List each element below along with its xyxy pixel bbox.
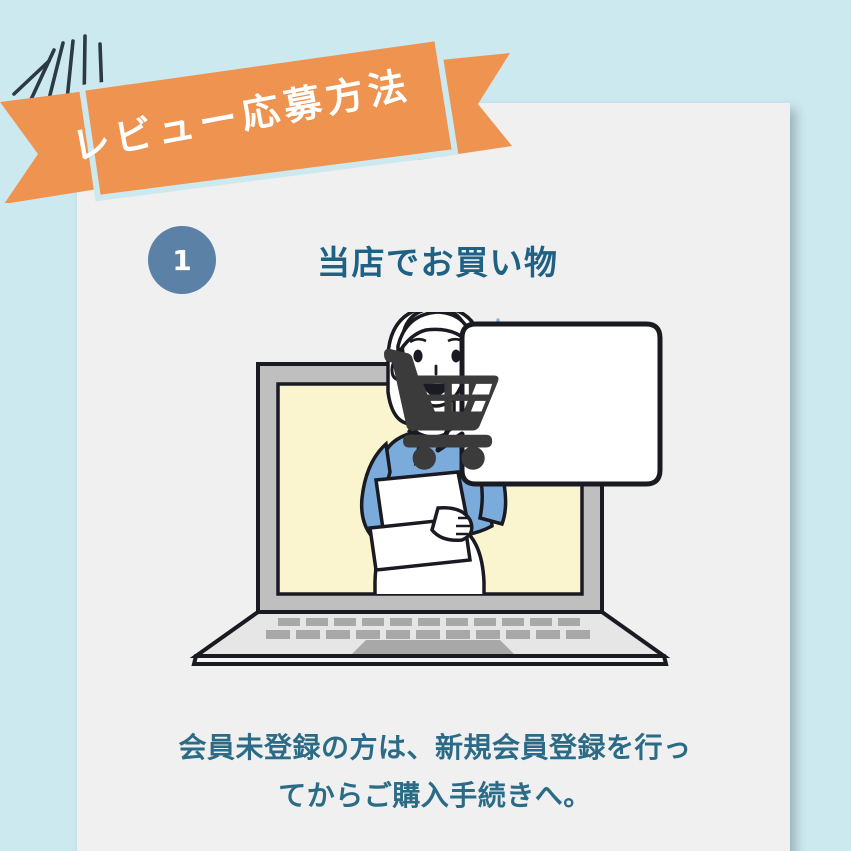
caption-line-2: てからご購入手続きへ。 — [125, 772, 745, 820]
ribbon-banner: レビュー応募方法 — [0, 28, 516, 203]
laptop-shopping-illustration — [170, 312, 710, 677]
step-heading: 当店でお買い物 — [317, 236, 559, 284]
caption-line-1: 会員未登録の方は、新規会員登録を行っ — [125, 724, 745, 772]
review-howto-slide: レビュー応募方法 1 当店でお買い物 — [0, 0, 851, 851]
caption-text: 会員未登録の方は、新規会員登録を行っ てからご購入手続きへ。 — [125, 724, 745, 820]
step-number-badge: 1 — [148, 226, 216, 294]
step-header-row: 1 当店でお買い物 — [77, 222, 790, 302]
laptop-keyboard — [194, 612, 666, 664]
